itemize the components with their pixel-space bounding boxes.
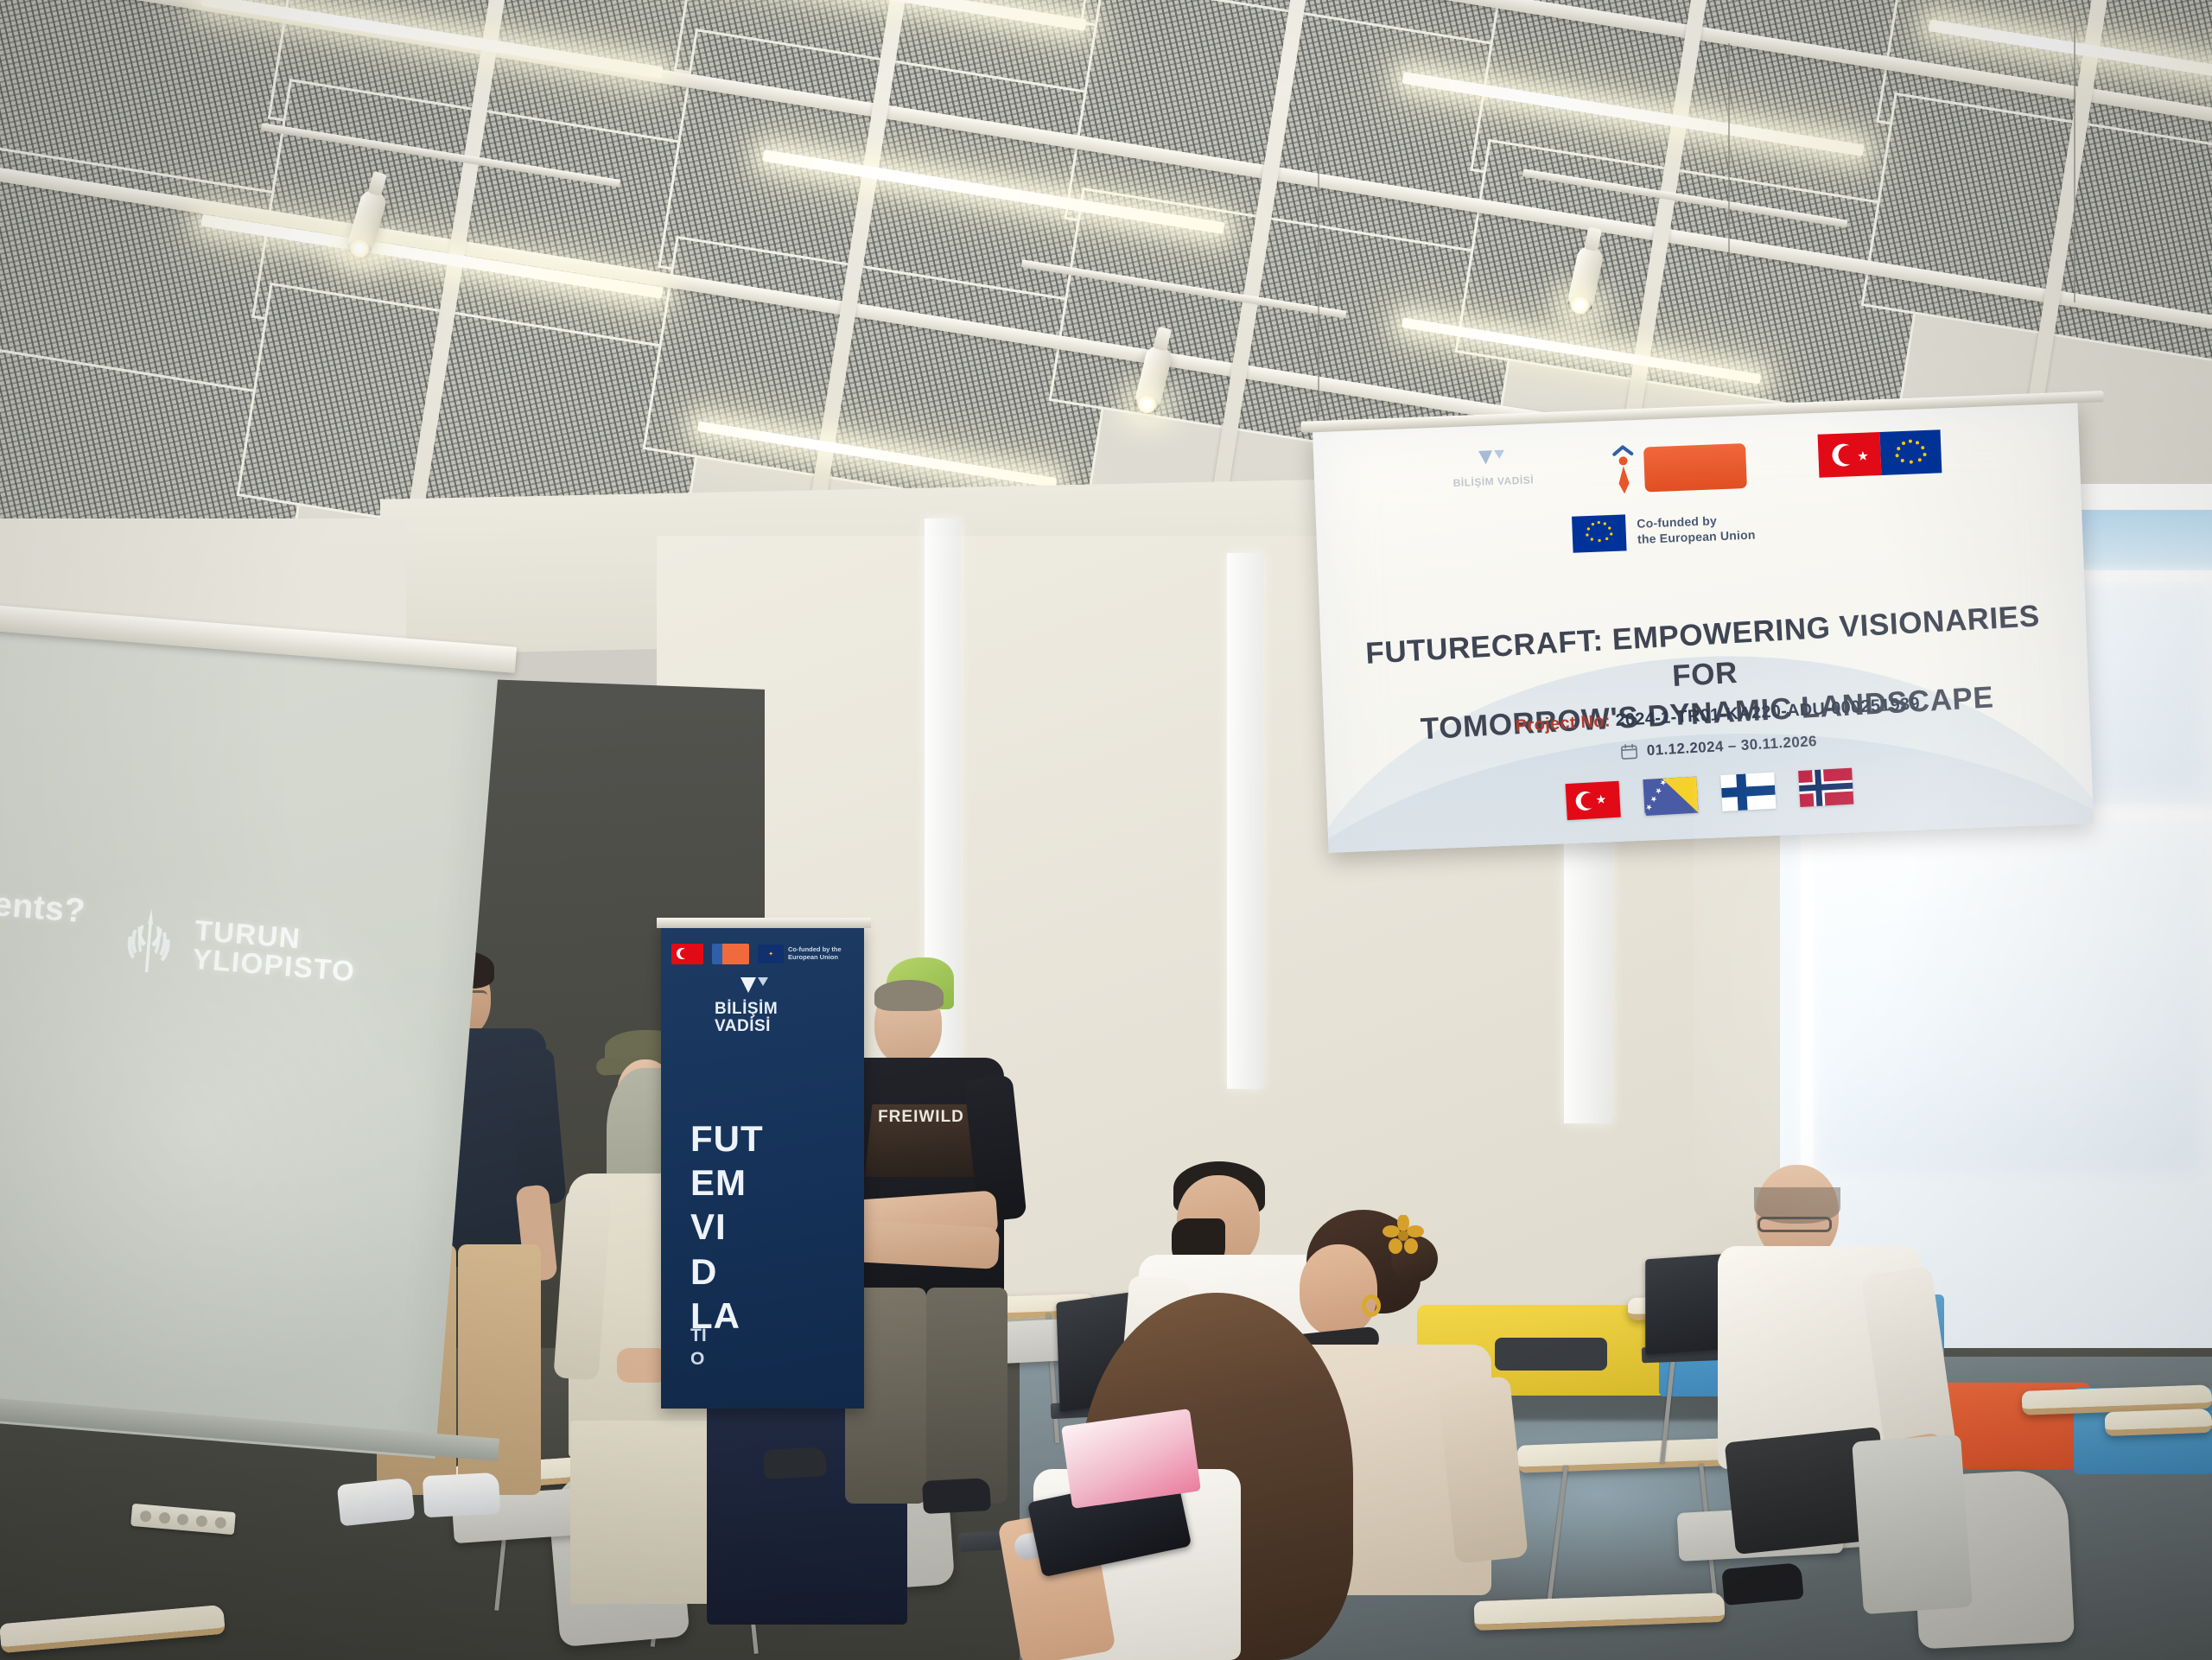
rollup-logo-row: ✦ Co-funded by the European Union <box>671 944 864 964</box>
eu-cofunded-logo: Co-funded by the European Union <box>1572 510 1756 553</box>
rollup-banner: ✦ Co-funded by the European Union BİLİŞİ… <box>661 925 864 1409</box>
rollup-headline-line: EM <box>690 1161 764 1205</box>
hanging-wire <box>1318 104 1319 415</box>
agency-wordmark-block <box>1643 443 1747 492</box>
bilisim-vadisi-logo: BİLİŞİM VADİSİ <box>1452 445 1534 489</box>
logo-turkish-agency-small <box>712 944 749 964</box>
rollup-banner-top-rail <box>657 918 871 928</box>
rollup-brand: BİLİŞİM VADİSİ <box>715 1001 778 1035</box>
flag-finland <box>1720 773 1776 811</box>
shaved-sides <box>874 980 944 1011</box>
rollup-brand-line2: VADİSİ <box>715 1018 778 1035</box>
shoe <box>1721 1562 1803 1606</box>
gold-flower-clip <box>1382 1215 1424 1256</box>
leg-camo-right <box>926 1288 1007 1504</box>
flag-turkey-small <box>671 944 703 964</box>
bag-on-bench <box>1495 1338 1607 1371</box>
rollup-subtext-line: TI <box>690 1324 707 1347</box>
slide-text-question: ...ments? <box>0 881 86 931</box>
shoe <box>763 1447 827 1479</box>
window-blind <box>1227 553 1263 1089</box>
tshirt-band-text: FREIWILD <box>861 1108 982 1127</box>
power-socket <box>140 1510 152 1522</box>
turkey-eu-logo: ★ <box>1817 429 1942 477</box>
trident-laurel-icon <box>115 903 182 979</box>
shoe-right <box>423 1472 500 1518</box>
turun-yliopisto-wordmark: TURUN YLIOPISTO <box>192 916 359 986</box>
power-socket <box>195 1515 207 1527</box>
power-socket <box>158 1511 170 1523</box>
rollup-headline-line: D <box>690 1250 764 1294</box>
turkish-national-agency-logo <box>1605 437 1746 499</box>
rollup-headline-line: VI <box>690 1205 764 1249</box>
bilisim-vadisi-mark <box>1475 446 1510 474</box>
rollup-subtext: TI O <box>690 1324 707 1371</box>
agency-figure-icon <box>1605 442 1645 500</box>
logo-eu-small: ✦ Co-funded by the European Union <box>758 944 864 964</box>
ceiling-mesh-panel <box>1861 92 2212 376</box>
leg-grey-trousers <box>1852 1434 1973 1614</box>
flag-bosnia: ★★★★★ <box>1643 777 1698 816</box>
flag-norway <box>1798 768 1853 807</box>
shoe <box>922 1478 991 1514</box>
bilisim-vadisi-mark <box>737 975 772 1001</box>
power-socket <box>177 1513 189 1525</box>
hanging-wire <box>1728 43 1730 302</box>
hanging-wire <box>2074 17 2075 302</box>
rollup-subtext-line: O <box>690 1347 707 1371</box>
rollup-headline-line: FUT <box>690 1116 764 1161</box>
abaya-skirt <box>570 1421 724 1604</box>
power-socket <box>214 1517 226 1529</box>
flag-eu-block <box>1879 429 1942 475</box>
flag-turkey-block: ★ <box>1817 432 1881 478</box>
rollup-headline: FUT EM VI D LA <box>690 1116 764 1338</box>
turun-yliopisto-logo: TURUN YLIOPISTO <box>115 903 359 993</box>
projection-screen: ...ments? <box>0 615 499 1459</box>
rollup-brand-line1: BİLİŞİM <box>715 1001 778 1018</box>
flag-eu-icon <box>1572 514 1627 552</box>
tablet-arm-desk <box>2105 1409 2212 1436</box>
calendar-icon <box>1620 743 1638 761</box>
eu-cofunded-line2: the European Union <box>1637 528 1756 548</box>
flag-turkey: ★ <box>1566 781 1621 820</box>
classroom-photo-scene: ...ments? <box>0 0 2212 1660</box>
banner-logo-row: BİLİŞİM VADİSİ ★ <box>1313 424 2081 511</box>
bilisim-vadisi-text: BİLİŞİM VADİSİ <box>1452 474 1534 489</box>
gold-earring <box>1362 1294 1381 1317</box>
glasses-icon <box>1758 1217 1832 1232</box>
project-no-label: Project No: <box>1515 711 1611 735</box>
window-pane <box>1806 821 2212 1184</box>
head <box>1300 1244 1377 1336</box>
shoe-left <box>337 1478 416 1527</box>
rollup-eu-text: Co-funded by the European Union <box>788 946 864 961</box>
futurecraft-hanging-banner: BİLİŞİM VADİSİ ★ <box>1313 400 2094 853</box>
